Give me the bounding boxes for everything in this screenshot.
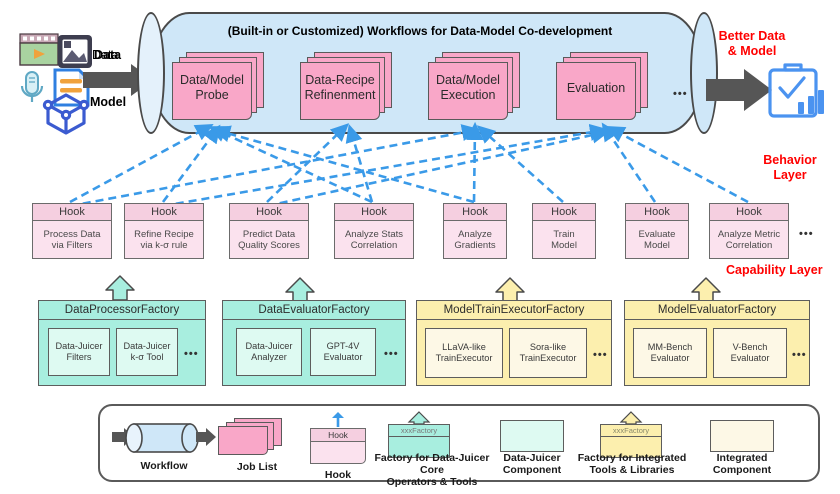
component-line1: Data-Juicer: [124, 341, 171, 352]
factory-title: xxxFactory: [388, 424, 450, 437]
component-card[interactable]: Data-Juicer Analyzer: [236, 328, 302, 376]
component-line2: Evaluator: [731, 353, 770, 364]
component-card[interactable]: Sora-like TrainExecutor: [509, 328, 587, 378]
legend-caption-line2: Component: [484, 464, 580, 476]
component-line2: Filters: [56, 352, 103, 363]
factory-ellipsis: •••: [384, 348, 399, 360]
factory-ellipsis: •••: [593, 349, 608, 361]
factory-title: ModelTrainExecutorFactory: [416, 300, 612, 320]
component-card[interactable]: GPT-4V Evaluator: [310, 328, 376, 376]
legend-caption-line1: Integrated: [696, 452, 788, 464]
component-line1: V-Bench: [731, 342, 770, 353]
legend-caption-line1: Factory for Data-Juicer Core: [372, 452, 492, 476]
legend-item-factory-integrated: xxxFactory: [600, 412, 662, 456]
component-card[interactable]: MM-Bench Evaluator: [633, 328, 707, 378]
legend-item-workflow: Workflow: [112, 418, 216, 476]
component-line1: Data-Juicer: [56, 341, 103, 352]
component-line2: Evaluator: [324, 352, 363, 363]
factory-up-arrow-icon: [600, 412, 662, 424]
legend-caption-line2: Tools & Libraries: [576, 464, 688, 476]
legend-caption-line2: Component: [696, 464, 788, 476]
hook-body: [310, 442, 366, 464]
legend-item-factory-core: xxxFactory: [388, 412, 450, 456]
legend-item-job-list: Job List: [218, 418, 296, 476]
factory-dataevaluatorfactory[interactable]: DataEvaluatorFactory Data-Juicer Analyze…: [222, 300, 406, 386]
factory-title: DataEvaluatorFactory: [222, 300, 406, 320]
legend-caption-component-integrated: Integrated Component: [696, 452, 788, 476]
factory-arrow-1: [286, 278, 314, 302]
component-line2: k-σ Tool: [124, 352, 171, 363]
component-line2: Analyzer: [246, 352, 293, 363]
factory-arrow-3: [692, 278, 720, 302]
legend-caption-line1: Data-Juicer: [484, 452, 580, 464]
component-card[interactable]: Data-Juicer k-σ Tool: [116, 328, 178, 376]
workflow-legend-icon: [112, 418, 216, 456]
component-card[interactable]: LLaVA-like TrainExecutor: [425, 328, 503, 378]
legend-caption: Workflow: [112, 460, 216, 472]
component-line2: Evaluator: [648, 353, 692, 364]
component-card[interactable]: V-Bench Evaluator: [713, 328, 787, 378]
component-line1: GPT-4V: [324, 341, 363, 352]
component-line1: Sora-like: [520, 342, 577, 353]
hook-header: Hook: [310, 428, 366, 442]
legend-caption: Job List: [218, 461, 296, 473]
component-line2: TrainExecutor: [520, 353, 577, 364]
component-line2: TrainExecutor: [436, 353, 493, 364]
factory-arrow-2: [496, 278, 524, 302]
factory-ellipsis: •••: [184, 348, 199, 360]
legend-caption-factory-integrated: Factory for Integrated Tools & Libraries: [576, 452, 688, 476]
component-line1: Data-Juicer: [246, 341, 293, 352]
component-line1: MM-Bench: [648, 342, 692, 353]
factory-dataprocessorfactory[interactable]: DataProcessorFactory Data-Juicer Filters…: [38, 300, 206, 386]
factory-arrow-0: [106, 276, 134, 300]
component-line1: LLaVA-like: [436, 342, 493, 353]
factory-ellipsis: •••: [792, 349, 807, 361]
legend-caption-line2: Operators & Tools: [372, 476, 492, 488]
legend-caption-component-core: Data-Juicer Component: [484, 452, 580, 476]
factory-modelevaluatorfactory[interactable]: ModelEvaluatorFactory MM-Bench Evaluator…: [624, 300, 810, 386]
legend-item-hook: Hook Hook: [300, 412, 376, 476]
component-card[interactable]: Data-Juicer Filters: [48, 328, 110, 376]
factory-modeltrainexecutorfactory[interactable]: ModelTrainExecutorFactory LLaVA-like Tra…: [416, 300, 612, 386]
legend-caption-factory-core: Factory for Data-Juicer Core Operators &…: [372, 452, 492, 488]
factory-up-arrow-icon: [388, 412, 450, 424]
diagram-canvas: Data Data Model (Built-in or Customized)…: [0, 0, 840, 494]
legend-caption-line1: Factory for Integrated: [576, 452, 688, 464]
hook-up-arrow-icon: [300, 412, 376, 428]
factory-title: xxxFactory: [600, 424, 662, 437]
legend-caption: Hook: [300, 469, 376, 481]
factory-title: ModelEvaluatorFactory: [624, 300, 810, 320]
factory-title: DataProcessorFactory: [38, 300, 206, 320]
